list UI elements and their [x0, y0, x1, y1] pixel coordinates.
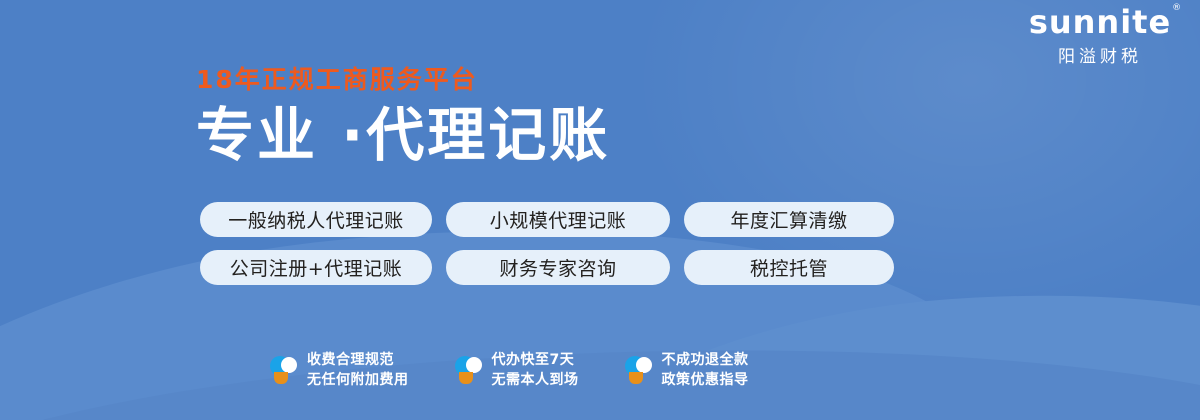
service-pill-annual-settlement[interactable]: 年度汇算清缴	[684, 202, 894, 237]
feature-line-2: 政策优惠指导	[662, 370, 749, 390]
service-pill-grid: 一般纳税人代理记账 小规模代理记账 年度汇算清缴 公司注册+代理记账 财务专家咨…	[200, 202, 894, 298]
service-pill-row-2: 公司注册+代理记账 财务专家咨询 税控托管	[200, 250, 894, 285]
feature-line-2: 无任何附加费用	[307, 370, 409, 390]
hero-copy: 18年正规工商服务平台 专业 ·代理记账	[196, 66, 610, 167]
feature-line-1: 收费合理规范	[307, 350, 409, 370]
service-pill-tax-control-custody[interactable]: 税控托管	[684, 250, 894, 285]
service-pill-row-1: 一般纳税人代理记账 小规模代理记账 年度汇算清缴	[200, 202, 894, 237]
hero-title: 专业 ·代理记账	[196, 103, 610, 168]
brand-logo-chinese-name: 阳溢财税	[1020, 42, 1180, 67]
service-pill-company-registration-bookkeeping[interactable]: 公司注册+代理记账	[200, 250, 432, 285]
feature-text-guarantee: 不成功退全款 政策优惠指导	[662, 350, 749, 391]
feature-item-pricing: 收费合理规范 无任何附加费用	[270, 350, 409, 391]
registered-trademark-icon: ®	[1172, 4, 1182, 13]
coin-stack-icon-white-disc	[636, 357, 652, 373]
coin-stack-icon-white-disc	[466, 357, 482, 373]
feature-text-speed: 代办快至7天 无需本人到场	[492, 350, 579, 391]
feature-item-speed: 代办快至7天 无需本人到场	[455, 350, 579, 391]
coin-stack-icon-white-disc	[281, 357, 297, 373]
service-pill-small-scale-bookkeeping[interactable]: 小规模代理记账	[446, 202, 670, 237]
service-pill-finance-expert-consulting[interactable]: 财务专家咨询	[446, 250, 670, 285]
coin-stack-icon-orange-base	[459, 372, 473, 384]
brand-logo-wordmark: sunnite®	[1029, 6, 1171, 40]
coin-stack-icon	[455, 354, 483, 386]
feature-strip: 收费合理规范 无任何附加费用 代办快至7天 无需本人到场 不成功退全款	[270, 350, 749, 391]
feature-line-1: 代办快至7天	[492, 350, 579, 370]
service-pill-general-taxpayer-bookkeeping[interactable]: 一般纳税人代理记账	[200, 202, 432, 237]
brand-logo[interactable]: sunnite® 阳溢财税	[1020, 6, 1180, 67]
hero-kicker: 18年正规工商服务平台	[196, 66, 610, 94]
feature-line-2: 无需本人到场	[492, 370, 579, 390]
coin-stack-icon	[625, 354, 653, 386]
coin-stack-icon-orange-base	[274, 372, 288, 384]
feature-line-1: 不成功退全款	[662, 350, 749, 370]
feature-item-guarantee: 不成功退全款 政策优惠指导	[625, 350, 749, 391]
coin-stack-icon	[270, 354, 298, 386]
coin-stack-icon-orange-base	[629, 372, 643, 384]
feature-text-pricing: 收费合理规范 无任何附加费用	[307, 350, 409, 391]
promo-banner: sunnite® 阳溢财税 18年正规工商服务平台 专业 ·代理记账 一般纳税人…	[0, 0, 1200, 420]
